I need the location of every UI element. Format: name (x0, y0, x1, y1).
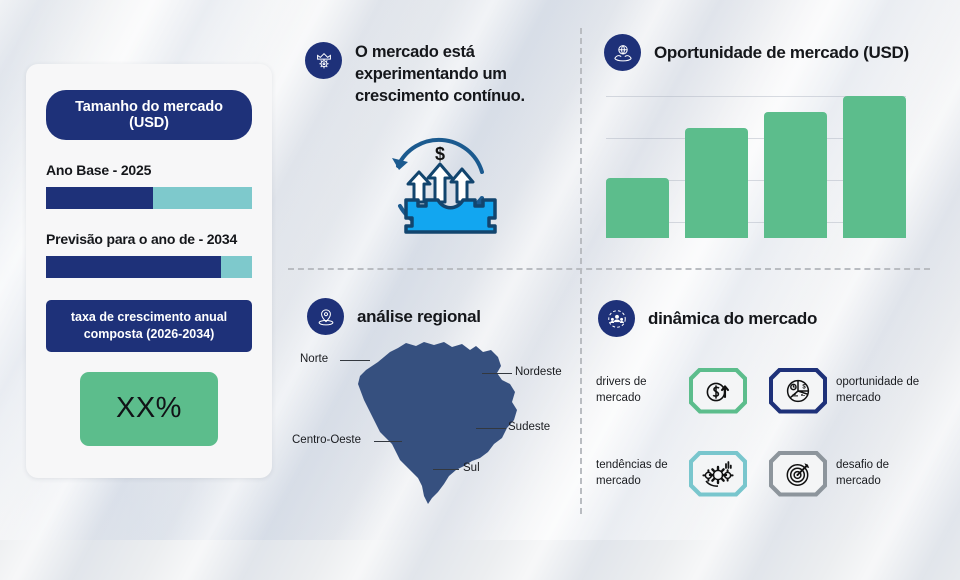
dollar-up-arrow-icon[interactable] (689, 368, 747, 414)
chart-bar (685, 128, 748, 238)
gears-trend-icon[interactable] (689, 451, 747, 497)
globe-in-hands-icon (604, 34, 641, 71)
region-label-sul: Sul (463, 462, 480, 474)
vertical-divider (580, 28, 582, 514)
growth-illustration: $ (378, 128, 503, 240)
dynamics-label-drivers: drivers de mercado (596, 375, 680, 405)
market-opportunity-header: Oportunidade de mercado (USD) (604, 34, 909, 71)
crown-network-icon (305, 42, 342, 79)
market-dynamics-title: dinâmica do mercado (648, 309, 817, 329)
base-year-label: Ano Base - 2025 (46, 162, 252, 178)
svg-text:$: $ (435, 144, 445, 164)
brazil-map-container: Norte Nordeste Sudeste Centro-Oeste Sul (300, 340, 580, 500)
growth-statement-text: O mercado está experimentando um crescim… (355, 42, 560, 108)
region-leader-nordeste (482, 373, 512, 374)
dynamics-item-opportunity[interactable]: $ oportunidade de mercado (769, 352, 936, 429)
cagr-value: XX% (80, 372, 218, 446)
market-size-card: Tamanho do mercado (USD) Ano Base - 2025… (26, 64, 272, 478)
regional-analysis-header: análise regional (307, 298, 481, 335)
dynamics-label-opportunity: oportunidade de mercado (836, 375, 920, 405)
forecast-year-bar-fill (46, 256, 221, 278)
regional-analysis-title: análise regional (357, 307, 481, 327)
chart-bars (606, 78, 906, 238)
market-dynamics-header: dinâmica do mercado (598, 300, 817, 337)
growth-statement-header: O mercado está experimentando um crescim… (305, 42, 560, 108)
cagr-label: taxa de crescimento anual composta (2026… (46, 300, 252, 352)
region-leader-sudeste (476, 428, 506, 429)
dynamics-label-challenge: desafio de mercado (836, 458, 920, 488)
market-dynamics-grid: drivers de mercado $ (596, 352, 936, 512)
region-label-norte: Norte (300, 353, 328, 365)
market-opportunity-title: Oportunidade de mercado (USD) (654, 43, 909, 63)
pie-chart-icon[interactable]: $ (769, 368, 827, 414)
region-label-sudeste: Sudeste (508, 421, 550, 433)
region-label-centro-oeste: Centro-Oeste (292, 434, 361, 446)
forecast-year-label: Previsão para o ano de - 2034 (46, 231, 252, 247)
chart-bar (606, 178, 669, 238)
location-pin-icon (307, 298, 344, 335)
base-year-bar-fill (46, 187, 153, 209)
dynamics-label-trends: tendências de mercado (596, 458, 680, 488)
market-opportunity-chart (606, 78, 906, 238)
dynamics-item-challenge[interactable]: desafio de mercado (769, 435, 936, 512)
region-leader-centro-oeste (374, 441, 402, 442)
people-group-icon (598, 300, 635, 337)
chart-bar (764, 112, 827, 238)
chart-bar (843, 96, 906, 238)
horizontal-divider (288, 268, 930, 270)
market-size-badge: Tamanho do mercado (USD) (46, 90, 252, 140)
dynamics-item-drivers[interactable]: drivers de mercado (596, 352, 763, 429)
base-year-bar (46, 187, 252, 209)
dynamics-item-trends[interactable]: tendências de mercado (596, 435, 763, 512)
region-label-nordeste: Nordeste (515, 366, 562, 378)
region-leader-sul (433, 469, 459, 470)
region-leader-norte (340, 360, 370, 361)
target-dart-icon[interactable] (769, 451, 827, 497)
forecast-year-bar (46, 256, 252, 278)
